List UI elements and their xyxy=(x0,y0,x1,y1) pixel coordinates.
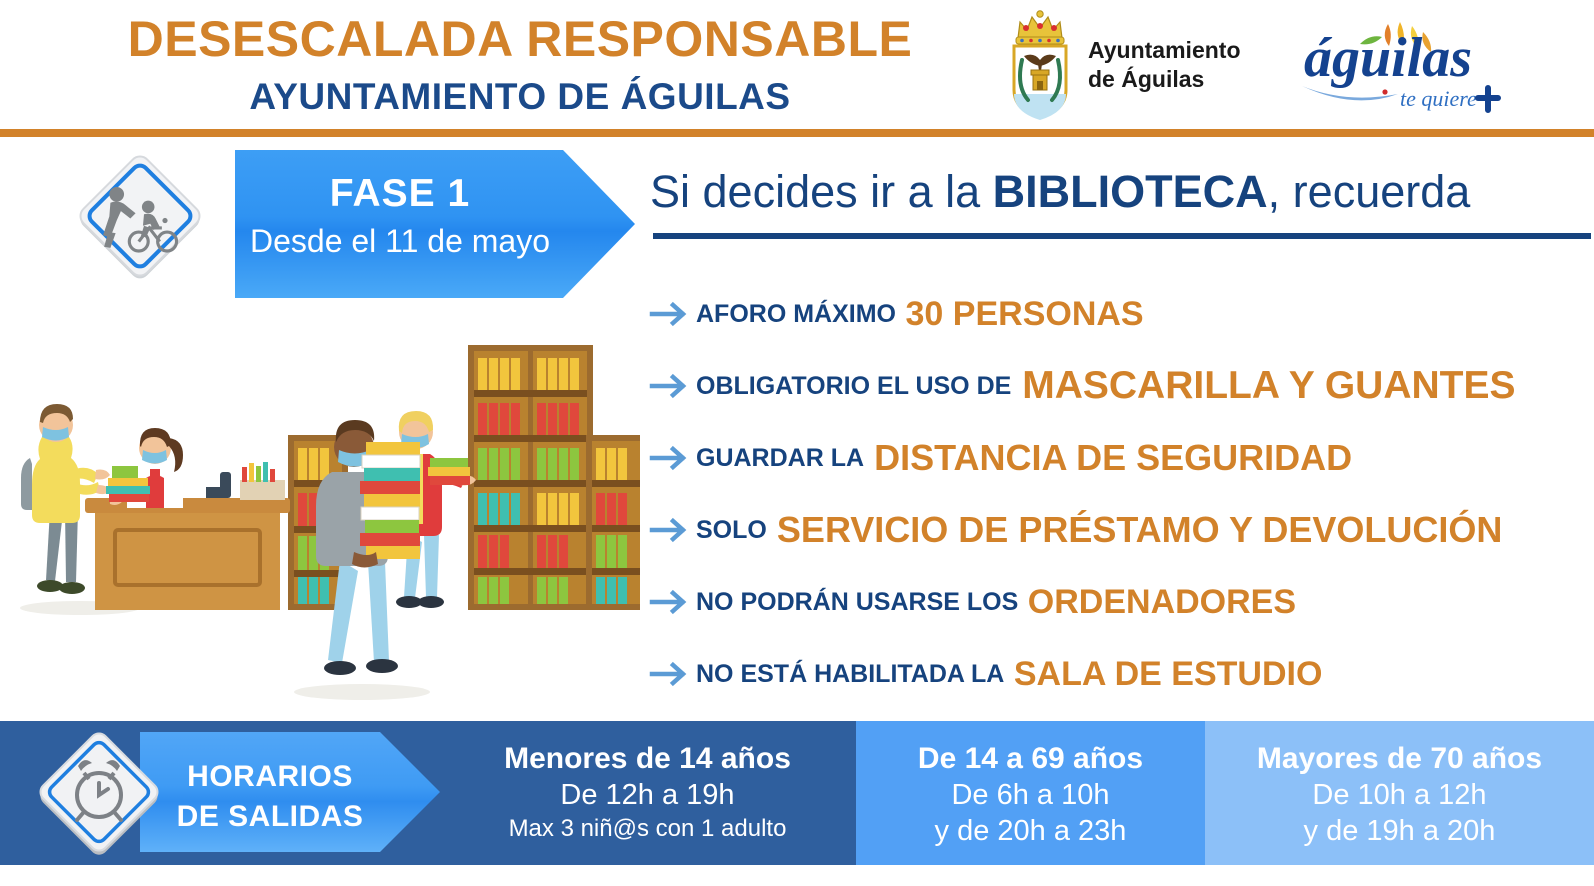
aguilas-brand-logo: águilas te quiere xyxy=(1292,14,1532,120)
schedule-bar: HORARIOS DE SALIDAS Menores de 14 años D… xyxy=(0,721,1594,865)
list-item: GUARDAR LA DISTANCIA DE SEGURIDAD xyxy=(648,422,1594,494)
library-scene-illustration xyxy=(10,330,640,715)
header-divider xyxy=(0,129,1594,137)
rule-lead: AFORO MÁXIMO xyxy=(696,300,896,329)
schedule-title: De 14 a 69 años xyxy=(856,741,1205,777)
rule-emphasis: SALA DE ESTUDIO xyxy=(1014,655,1323,694)
schedule-title: Mayores de 70 años xyxy=(1205,741,1594,777)
main-heading: Si decides ir a la BIBLIOTECA, recuerda xyxy=(650,166,1470,218)
rule-lead: GUARDAR LA xyxy=(696,444,864,473)
list-item: NO ESTÁ HABILITADA LA SALA DE ESTUDIO xyxy=(648,638,1594,710)
rule-emphasis: 30 PERSONAS xyxy=(906,295,1144,334)
phase-banner: FASE 1 Desde el 11 de mayo xyxy=(60,142,650,312)
phase-label: FASE 1 xyxy=(235,172,565,216)
arrow-right-icon xyxy=(648,513,696,547)
schedule-banner-text: HORARIOS DE SALIDAS xyxy=(160,757,380,837)
bookshelf-tall xyxy=(468,345,593,610)
rule-emphasis: MASCARILLA Y GUANTES xyxy=(1022,364,1515,408)
list-item: OBLIGATORIO EL USO DE MASCARILLA Y GUANT… xyxy=(648,350,1594,422)
aguilas-wordmark-icon: águilas te quiere xyxy=(1292,14,1532,120)
schedule-times: De 12h a 19h xyxy=(440,777,855,813)
schedule-banner-line-2: DE SALIDAS xyxy=(160,797,380,837)
library-counter xyxy=(85,498,290,610)
page-title: DESESCALADA RESPONSABLE xyxy=(70,14,970,64)
schedule-column-over70: Mayores de 70 años De 10h a 12h y de 19h… xyxy=(1205,741,1594,850)
book-stack-carried xyxy=(360,442,420,559)
schedule-banner-line-1: HORARIOS xyxy=(160,757,380,797)
arrow-right-icon xyxy=(648,657,696,691)
alarm-clock-icon xyxy=(32,725,166,859)
schedule-note: y de 20h a 23h xyxy=(856,813,1205,849)
page-header: DESESCALADA RESPONSABLE AYUNTAMIENTO DE … xyxy=(0,0,1594,130)
rules-list: AFORO MÁXIMO 30 PERSONAS OBLIGATORIO EL … xyxy=(648,278,1594,710)
rule-emphasis: ORDENADORES xyxy=(1028,583,1296,622)
rule-lead: SOLO xyxy=(696,516,767,545)
heading-strong: BIBLIOTECA xyxy=(993,166,1268,217)
arrow-right-icon xyxy=(648,297,696,331)
schedule-title: Menores de 14 años xyxy=(440,741,855,777)
page-subtitle: AYUNTAMIENTO DE ÁGUILAS xyxy=(70,76,970,118)
ayuntamiento-line-2: de Águilas xyxy=(1088,65,1241,94)
ayuntamiento-line-1: Ayuntamiento xyxy=(1088,36,1241,65)
heading-prefix: Si decides ir a la xyxy=(650,166,993,217)
heading-underline xyxy=(653,233,1591,239)
schedule-note: y de 19h a 20h xyxy=(1205,813,1594,849)
list-item: SOLO SERVICIO DE PRÉSTAMO Y DEVOLUCIÓN xyxy=(648,494,1594,566)
svg-text:te quiere: te quiere xyxy=(1400,86,1477,111)
pedestrian-bicycle-sign-icon xyxy=(72,148,208,284)
bookshelf-short-right xyxy=(586,435,640,610)
list-item: AFORO MÁXIMO 30 PERSONAS xyxy=(648,278,1594,350)
rule-lead: NO PODRÁN USARSE LOS xyxy=(696,588,1018,617)
coat-of-arms-icon xyxy=(1000,8,1080,120)
schedule-note: Max 3 niñ@s con 1 adulto xyxy=(440,813,855,844)
rule-emphasis: DISTANCIA DE SEGURIDAD xyxy=(874,437,1352,479)
arrow-right-icon xyxy=(648,369,696,403)
desk-items xyxy=(206,462,285,500)
arrow-right-icon xyxy=(648,585,696,619)
arrow-right-icon xyxy=(648,441,696,475)
schedule-column-14to69: De 14 a 69 años De 6h a 10h y de 20h a 2… xyxy=(856,741,1205,850)
schedule-banner-arrow: HORARIOS DE SALIDAS xyxy=(140,732,440,852)
rule-lead: NO ESTÁ HABILITADA LA xyxy=(696,660,1004,689)
phase-arrow-shape: FASE 1 Desde el 11 de mayo xyxy=(235,150,635,298)
heading-suffix: , recuerda xyxy=(1268,166,1471,217)
person-librarian xyxy=(106,428,183,508)
ayuntamiento-logo: Ayuntamiento de Águilas xyxy=(1000,8,1250,120)
book-stack-right xyxy=(428,458,470,485)
schedule-times: De 10h a 12h xyxy=(1205,777,1594,813)
rule-emphasis: SERVICIO DE PRÉSTAMO Y DEVOLUCIÓN xyxy=(777,509,1502,551)
svg-text:águilas: águilas xyxy=(1304,27,1472,89)
ayuntamiento-logo-text: Ayuntamiento de Águilas xyxy=(1088,36,1241,95)
phase-date: Desde el 11 de mayo xyxy=(235,223,565,260)
schedule-column-under14: Menores de 14 años De 12h a 19h Max 3 ni… xyxy=(440,741,855,844)
rule-lead: OBLIGATORIO EL USO DE xyxy=(696,372,1011,401)
list-item: NO PODRÁN USARSE LOS ORDENADORES xyxy=(648,566,1594,638)
schedule-times: De 6h a 10h xyxy=(856,777,1205,813)
